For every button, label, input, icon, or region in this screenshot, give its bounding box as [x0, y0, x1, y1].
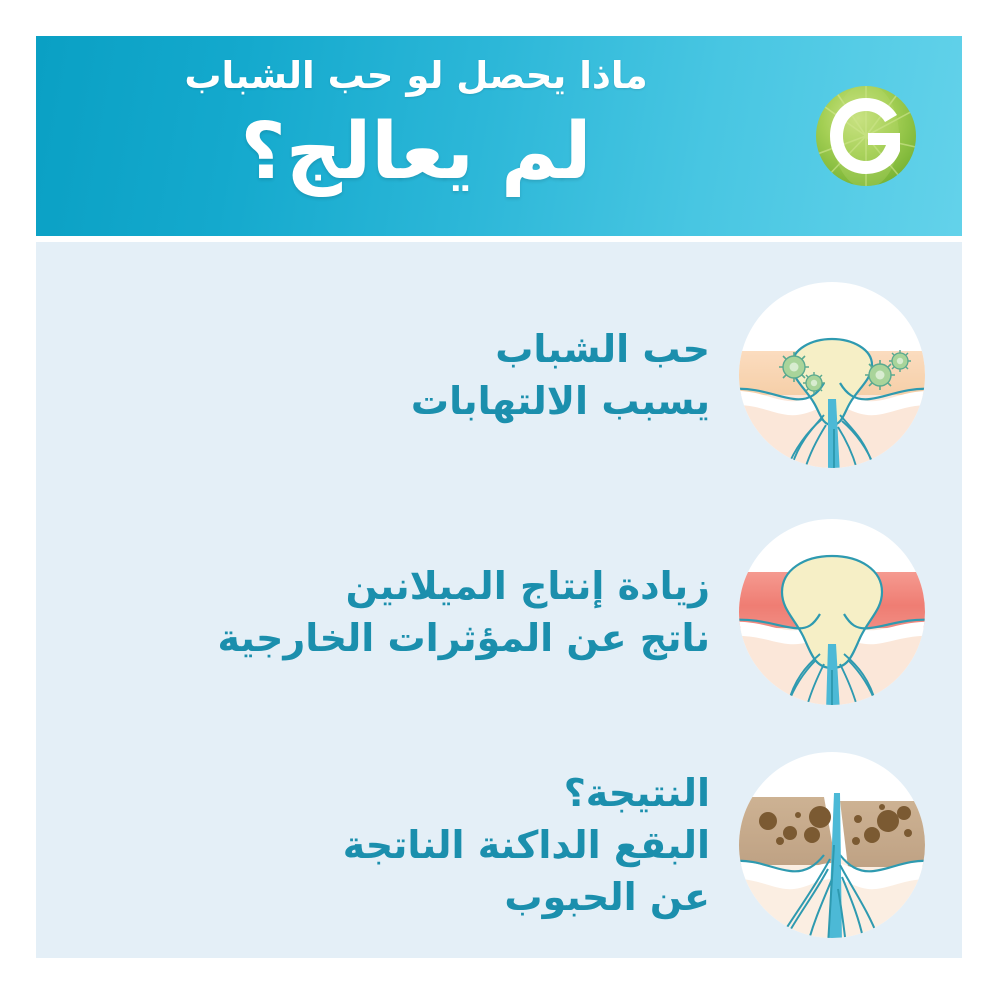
header-text-group: ماذا يحصل لو حب الشباب لم يعالج؟: [36, 36, 796, 236]
inflamed-pustule-illustration: [736, 516, 928, 708]
content-panel: حب الشباب يسبب الالتهابات: [36, 242, 962, 958]
section-dark-spots-text: النتيجة؟ البقع الداكنة الناتجة عن الحبوب: [36, 767, 710, 923]
section-inflammation: حب الشباب يسبب الالتهابات: [36, 270, 962, 480]
header-title-line1: ماذا يحصل لو حب الشباب: [36, 52, 796, 100]
header-title-line2: لم يعالج؟: [36, 100, 796, 204]
section-inflammation-text: حب الشباب يسبب الالتهابات: [36, 323, 710, 427]
dark-spots-skin-illustration: [736, 749, 928, 941]
infographic-poster: ماذا يحصل لو حب الشباب لم يعالج؟: [0, 0, 1000, 1000]
leaf-g-logo: [808, 78, 924, 194]
section-dark-spots: النتيجة؟ البقع الداكنة الناتجة عن الحبوب: [36, 740, 962, 950]
skin-pore-bacteria-illustration: [736, 279, 928, 471]
header-banner: ماذا يحصل لو حب الشباب لم يعالج؟: [36, 36, 962, 236]
section-melanin-text: زيادة إنتاج الميلانين ناتج عن المؤثرات ا…: [36, 560, 710, 664]
section-melanin: زيادة إنتاج الميلانين ناتج عن المؤثرات ا…: [36, 507, 962, 717]
